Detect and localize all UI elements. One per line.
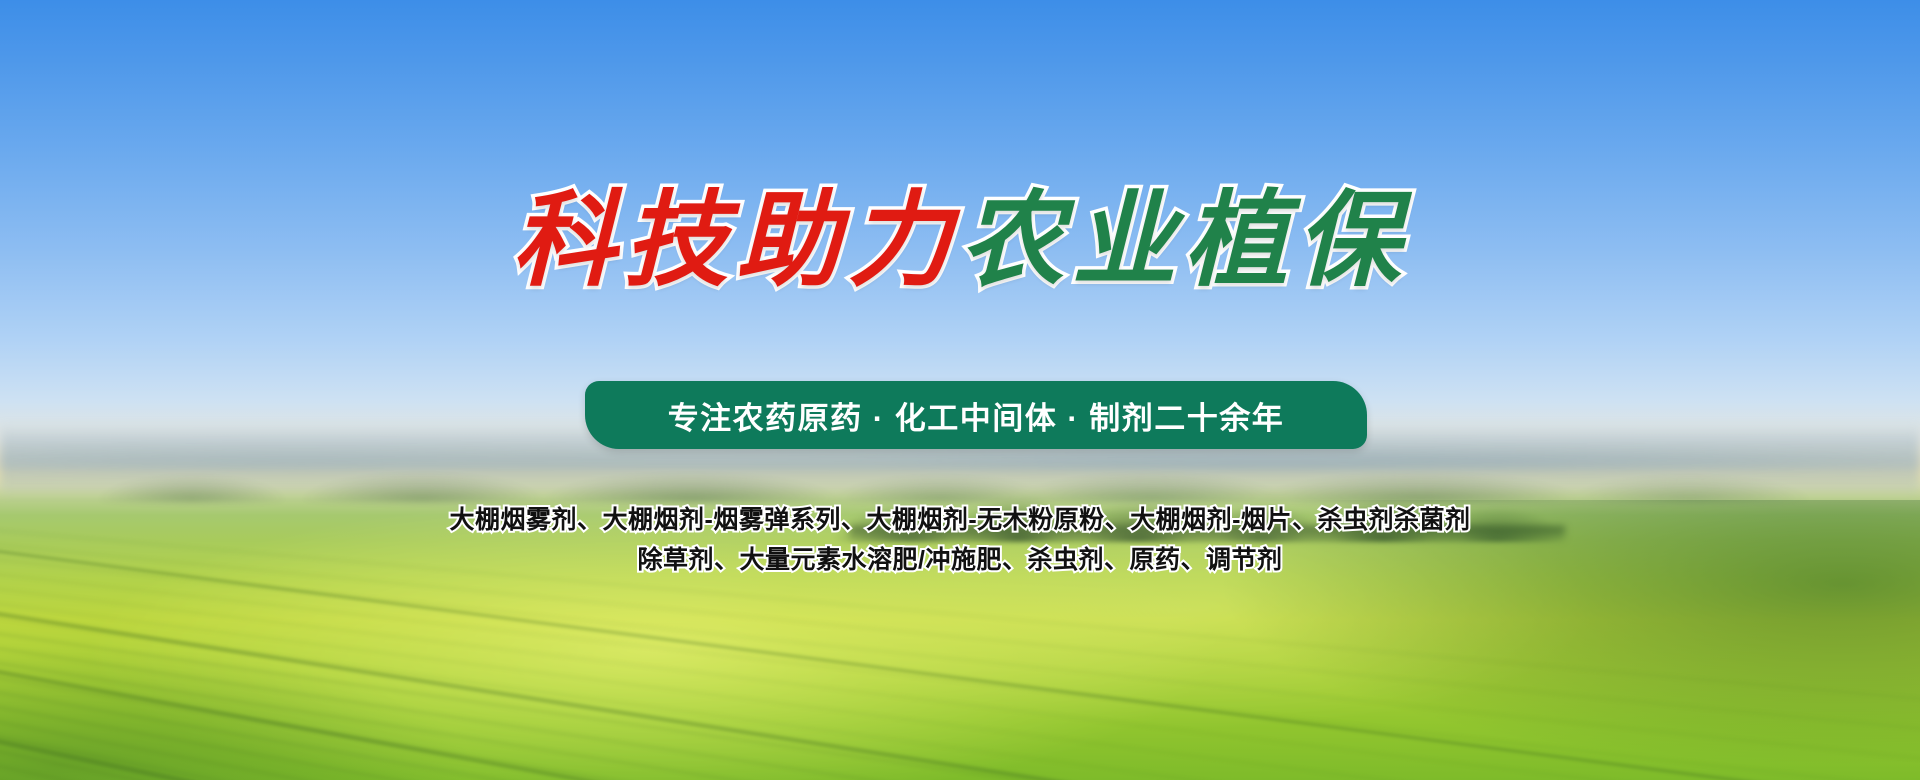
tagline-badge: 专注农药原药 · 化工中间体 · 制剂二十余年 — [585, 381, 1367, 449]
tagline-badge-text: 专注农药原药 · 化工中间体 · 制剂二十余年 — [668, 393, 1285, 438]
product-description: 大棚烟雾剂、大棚烟剂-烟雾弹系列、大棚烟剂-无木粉原粉、大棚烟剂-烟片、杀虫剂杀… — [0, 500, 1920, 580]
product-description-line-1: 大棚烟雾剂、大棚烟剂-烟雾弹系列、大棚烟剂-无木粉原粉、大棚烟剂-烟片、杀虫剂杀… — [0, 500, 1920, 540]
hero-banner: 科技助力农业植保 专注农药原药 · 化工中间体 · 制剂二十余年 大棚烟雾剂、大… — [0, 0, 1920, 780]
banner-title-green: 农业植保 — [960, 178, 1408, 301]
banner-title-red: 科技助力 — [512, 178, 960, 301]
banner-title: 科技助力农业植保 — [0, 178, 1920, 302]
product-description-line-2: 除草剂、大量元素水溶肥/冲施肥、杀虫剂、原药、调节剂 — [0, 540, 1920, 580]
banner-content: 科技助力农业植保 专注农药原药 · 化工中间体 · 制剂二十余年 大棚烟雾剂、大… — [0, 0, 1920, 780]
